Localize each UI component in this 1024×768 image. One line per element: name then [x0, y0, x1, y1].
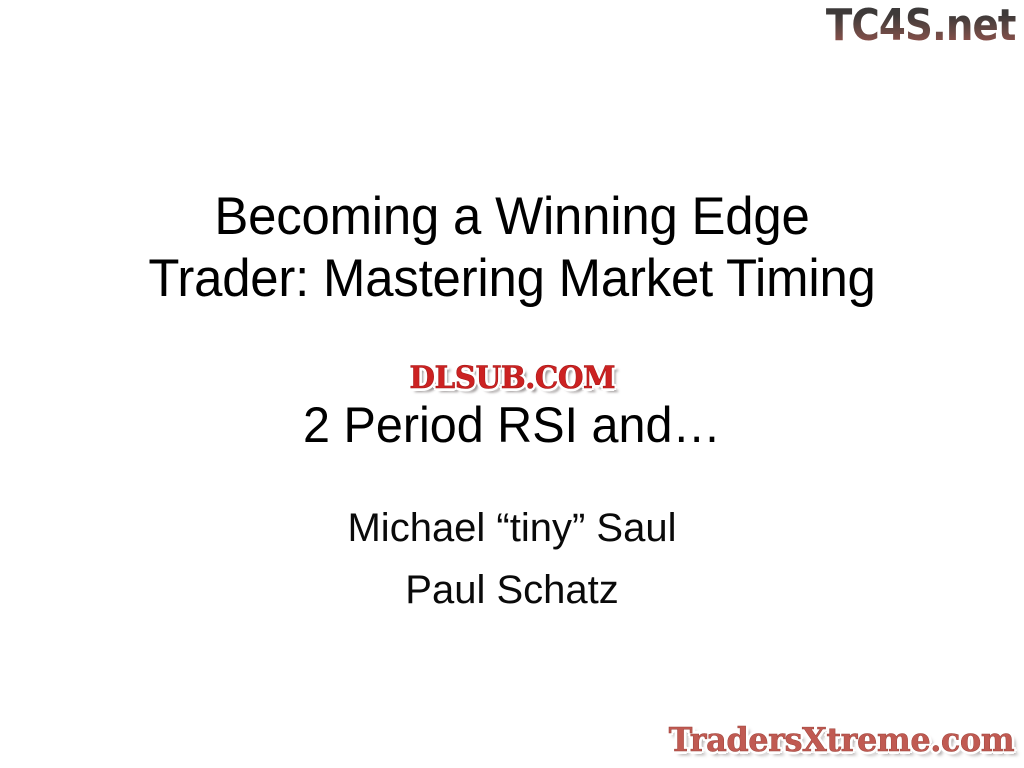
watermark-tradersxtreme-com: TradersXtreme.com: [658, 720, 1014, 760]
slide-subtitle: 2 Period RSI and…: [0, 396, 1024, 454]
title-line-1: Becoming a Winning Edge: [20, 186, 1003, 248]
watermark-dlsub-com-text: DLSUB.COM: [409, 360, 615, 396]
slide-title: Becoming a Winning Edge Trader: Masterin…: [0, 186, 1024, 310]
author-line-2: Paul Schatz: [0, 559, 1024, 621]
watermark-tc4s-net: TC4S.net: [826, 2, 1016, 50]
watermark-dlsub-com: DLSUB.COM: [0, 360, 1024, 396]
title-line-2: Trader: Mastering Market Timing: [20, 248, 1003, 310]
author-line-1: Michael “tiny” Saul: [0, 497, 1024, 559]
presentation-slide: TC4S.net Becoming a Winning Edge Trader:…: [0, 0, 1024, 768]
subtitle-line-1: 2 Period RSI and…: [15, 396, 1008, 454]
watermark-tradersxtreme-com-text: TradersXtreme.com: [669, 720, 1014, 760]
slide-authors: Michael “tiny” Saul Paul Schatz: [0, 497, 1024, 621]
